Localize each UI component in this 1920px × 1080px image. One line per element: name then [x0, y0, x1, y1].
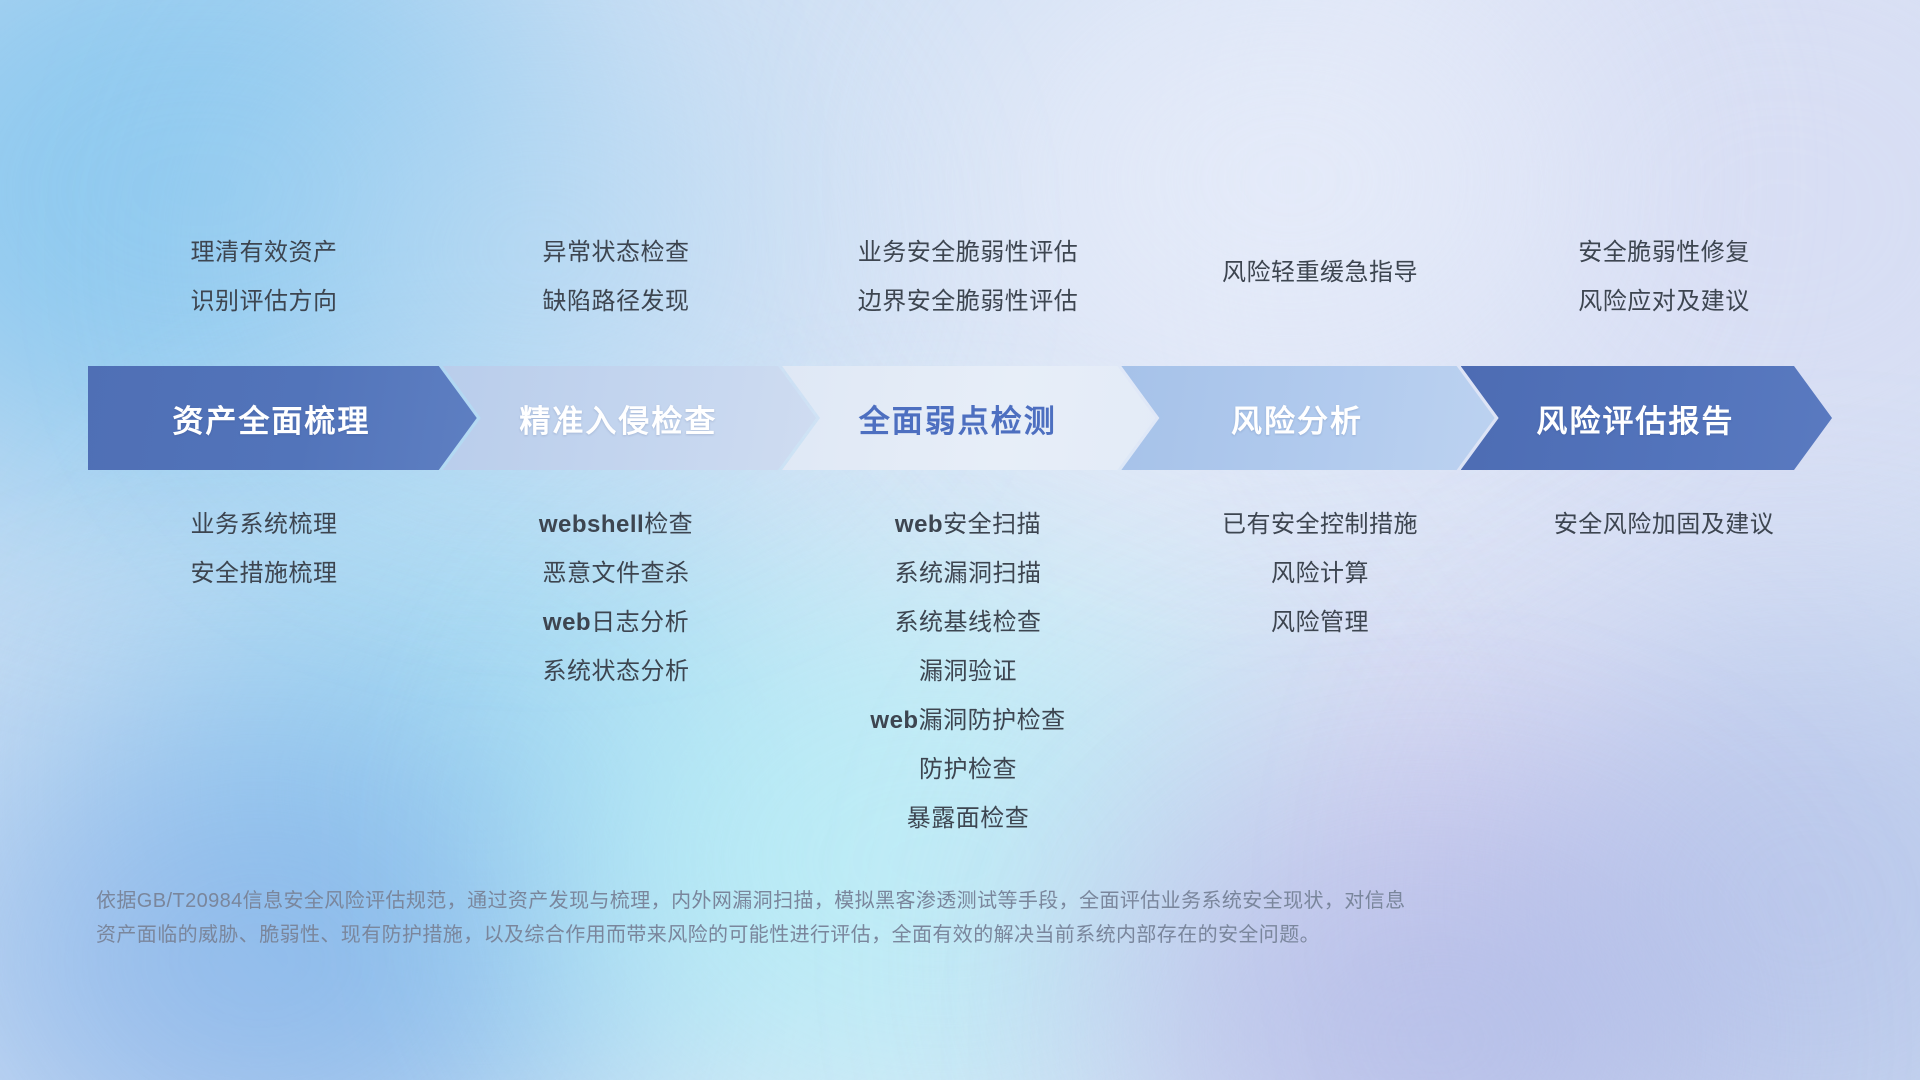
stage-chevron-5[interactable]: 风险评估报告 [1461, 366, 1832, 470]
stage-label: 风险分析 [1231, 396, 1363, 441]
stage-chevron-band: 资产全面梳理 精准入侵检查 全面弱点检测 风险分析 风险评估报告 [88, 366, 1832, 470]
task-item: webshell检查 [539, 500, 693, 549]
output-item: 安全脆弱性修复 [1578, 228, 1750, 277]
stage-outputs-5: 安全脆弱性修复 风险应对及建议 [1496, 228, 1832, 326]
process-diagram: 理清有效资产 识别评估方向 异常状态检查 缺陷路径发现 业务安全脆弱性评估 边界… [0, 0, 1920, 1080]
output-item: 风险应对及建议 [1578, 277, 1750, 326]
task-item: 已有安全控制措施 [1222, 500, 1418, 549]
stage-chevron-1[interactable]: 资产全面梳理 [88, 366, 477, 470]
stage-tasks-3: web安全扫描 系统漏洞扫描 系统基线检查 漏洞验证 web漏洞防护检查 防护检… [792, 500, 1144, 843]
stage-tasks-2: webshell检查 恶意文件查杀 web日志分析 系统状态分析 [440, 500, 792, 696]
stage-tasks-4: 已有安全控制措施 风险计算 风险管理 [1144, 500, 1496, 647]
task-item: 业务系统梳理 [191, 500, 338, 549]
stage-outputs-3: 业务安全脆弱性评估 边界安全脆弱性评估 [792, 228, 1144, 326]
output-item: 业务安全脆弱性评估 [858, 228, 1079, 277]
task-item: web安全扫描 [895, 500, 1041, 549]
output-item: 理清有效资产 [191, 228, 338, 277]
task-item: 安全措施梳理 [191, 549, 338, 598]
task-item: 防护检查 [919, 745, 1017, 794]
latin-token: webshell [539, 511, 644, 538]
footer-line: 依据GB/T20984信息安全风险评估规范，通过资产发现与梳理，内外网漏洞扫描，… [96, 884, 1616, 918]
stage-outputs-1: 理清有效资产 识别评估方向 [88, 228, 440, 326]
latin-token: web [895, 511, 943, 538]
latin-token: web [870, 707, 918, 734]
task-item: 安全风险加固及建议 [1554, 500, 1775, 549]
stage-chevron-4[interactable]: 风险分析 [1121, 366, 1494, 470]
stage-outputs-2: 异常状态检查 缺陷路径发现 [440, 228, 792, 326]
task-item: 风险管理 [1271, 598, 1369, 647]
stage-tasks-1: 业务系统梳理 安全措施梳理 [88, 500, 440, 598]
task-item: web日志分析 [543, 598, 689, 647]
task-item: 系统基线检查 [895, 598, 1042, 647]
stage-label: 风险评估报告 [1536, 396, 1734, 441]
task-item: 系统漏洞扫描 [895, 549, 1042, 598]
task-item: 漏洞验证 [919, 647, 1017, 696]
footer-description: 依据GB/T20984信息安全风险评估规范，通过资产发现与梳理，内外网漏洞扫描，… [96, 884, 1616, 952]
stage-chevron-2[interactable]: 精准入侵检查 [443, 366, 816, 470]
output-item: 风险轻重缓急指导 [1222, 248, 1418, 297]
stage-tasks-5: 安全风险加固及建议 [1496, 500, 1832, 549]
task-item: 系统状态分析 [543, 647, 690, 696]
output-item: 缺陷路径发现 [543, 277, 690, 326]
task-item: 风险计算 [1271, 549, 1369, 598]
task-item: 暴露面检查 [907, 794, 1030, 843]
task-item: 恶意文件查杀 [543, 549, 690, 598]
footer-line: 资产面临的威胁、脆弱性、现有防护措施，以及综合作用而带来风险的可能性进行评估，全… [96, 918, 1616, 952]
stage-label: 资产全面梳理 [172, 396, 370, 441]
latin-token: web [543, 609, 591, 636]
stage-tasks-row: 业务系统梳理 安全措施梳理 webshell检查 恶意文件查杀 web日志分析 … [88, 500, 1832, 843]
stage-chevron-3[interactable]: 全面弱点检测 [782, 366, 1155, 470]
stage-label: 全面弱点检测 [859, 396, 1057, 441]
output-item: 边界安全脆弱性评估 [858, 277, 1079, 326]
stage-label: 精准入侵检查 [519, 396, 717, 441]
output-item: 识别评估方向 [191, 277, 338, 326]
stage-outputs-row: 理清有效资产 识别评估方向 异常状态检查 缺陷路径发现 业务安全脆弱性评估 边界… [88, 228, 1832, 318]
task-item: web漏洞防护检查 [870, 696, 1065, 745]
output-item: 异常状态检查 [543, 228, 690, 277]
stage-outputs-4: 风险轻重缓急指导 [1144, 228, 1496, 297]
